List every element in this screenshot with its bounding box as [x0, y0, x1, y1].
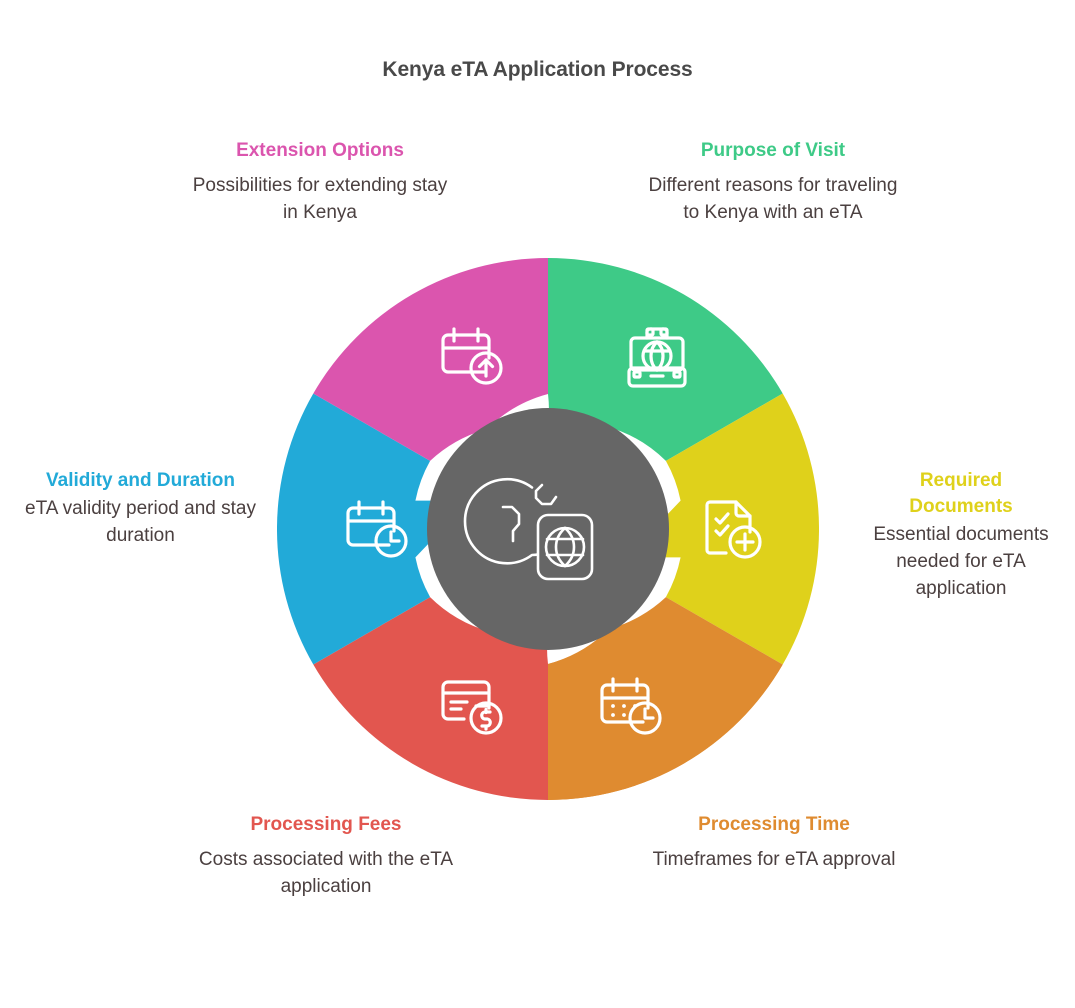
page-title: Kenya eTA Application Process: [0, 58, 1075, 82]
label-required-description: Essential documents needed for eTA appli…: [866, 521, 1056, 602]
label-fees-heading: Processing Fees: [192, 812, 460, 838]
label-extension-options: Extension Options Possibilities for exte…: [186, 138, 454, 226]
label-validity-description: eTA validity period and stay duration: [18, 495, 263, 549]
label-extension-heading: Extension Options: [186, 138, 454, 164]
label-fees-description: Costs associated with the eTA applicatio…: [192, 846, 460, 900]
label-validity-heading: Validity and Duration: [18, 468, 263, 494]
label-extension-description: Possibilities for extending stay in Keny…: [186, 172, 454, 226]
label-purpose-heading: Purpose of Visit: [642, 138, 904, 164]
wheel-svg: [277, 258, 819, 800]
label-purpose-description: Different reasons for traveling to Kenya…: [642, 172, 904, 226]
label-time-description: Timeframes for eTA approval: [642, 846, 906, 873]
label-purpose-of-visit: Purpose of Visit Different reasons for t…: [642, 138, 904, 226]
label-required-heading: Required Documents: [866, 468, 1056, 520]
label-time-heading: Processing Time: [642, 812, 906, 838]
label-processing-fees: Processing Fees Costs associated with th…: [192, 812, 460, 900]
label-processing-time: Processing Time Timeframes for eTA appro…: [642, 812, 906, 873]
label-required-documents: Required Documents Essential documents n…: [866, 468, 1056, 602]
label-validity-and-duration: Validity and Duration eTA validity perio…: [18, 468, 263, 549]
process-wheel: [277, 258, 819, 800]
